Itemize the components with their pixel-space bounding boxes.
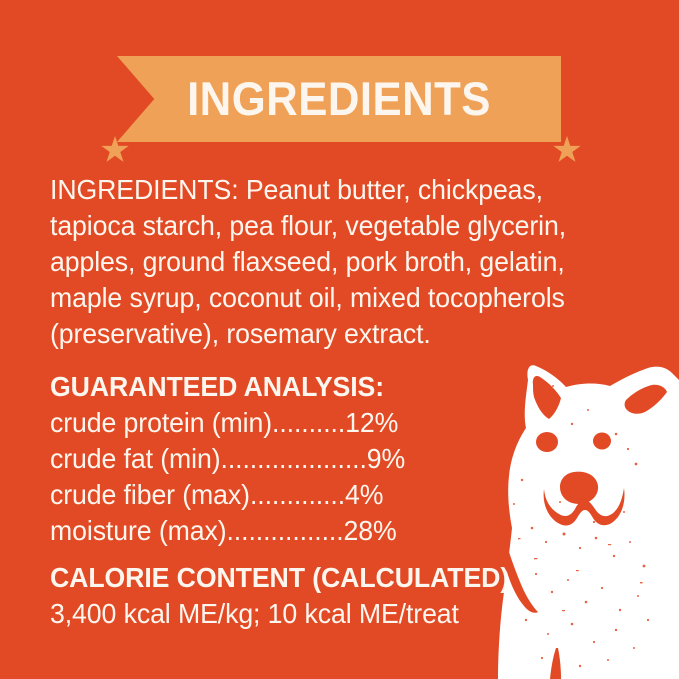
dog-right-ear-inner: [625, 385, 667, 414]
guaranteed-analysis-block: GUARANTEED ANALYSIS: crude protein (min)…: [50, 369, 405, 549]
dog-muzzle-line: [544, 488, 625, 525]
analysis-row: crude protein (min)..........12%: [50, 405, 405, 441]
calorie-content-value: 3,400 kcal ME/kg; 10 kcal ME/treat: [50, 596, 518, 632]
ingredients-panel: INGREDIENTS INGREDIENTS: Peanut butter, …: [0, 0, 679, 679]
ingredients-line: apples, ground flaxseed, pork broth, gel…: [50, 244, 566, 280]
analysis-row: moisture (max)................28%: [50, 513, 405, 549]
dog-leg-gap: [550, 648, 561, 679]
banner: INGREDIENTS: [0, 56, 679, 142]
dog-right-eye: [593, 433, 611, 450]
guaranteed-analysis-heading: GUARANTEED ANALYSIS:: [50, 369, 405, 405]
dog-left-ear-inner: [533, 376, 561, 419]
dog-nose: [560, 472, 598, 504]
ingredients-line: (preservative), rosemary extract.: [50, 316, 566, 352]
page-title: INGREDIENTS: [133, 56, 546, 142]
ingredients-line: tapioca starch, pea flour, vegetable gly…: [50, 208, 566, 244]
dog-left-eye: [536, 432, 558, 452]
calorie-content-block: CALORIE CONTENT (CALCULATED): 3,400 kcal…: [50, 560, 518, 632]
dog-texture-speckles: [513, 385, 649, 667]
ingredients-line: maple syrup, coconut oil, mixed tocopher…: [50, 280, 566, 316]
ingredients-paragraph: INGREDIENTS: Peanut butter, chickpeas, t…: [50, 172, 566, 352]
ingredients-line: INGREDIENTS: Peanut butter, chickpeas,: [50, 172, 566, 208]
analysis-row: crude fiber (max).............4%: [50, 477, 405, 513]
calorie-content-heading: CALORIE CONTENT (CALCULATED):: [50, 560, 518, 596]
analysis-row: crude fat (min)....................9%: [50, 441, 405, 477]
